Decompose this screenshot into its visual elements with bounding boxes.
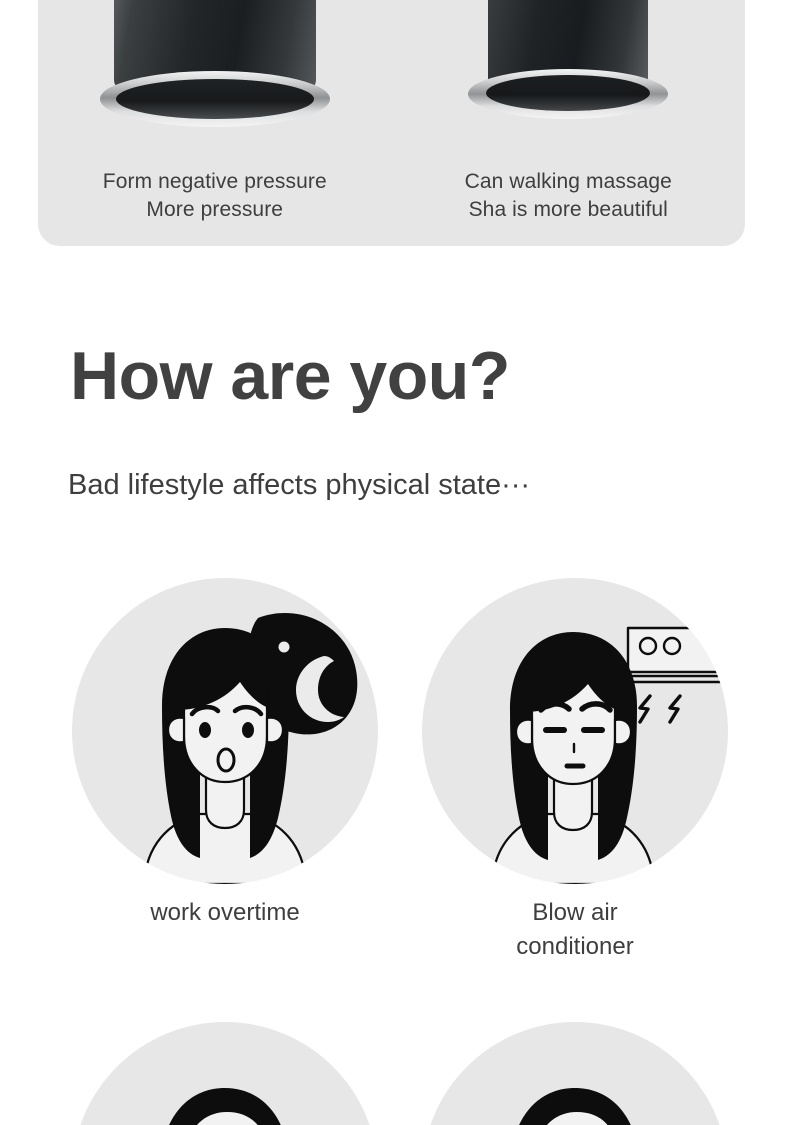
- woman-partial-icon: [72, 1022, 378, 1125]
- woman-air-conditioner-icon: [422, 578, 728, 884]
- page-title: How are you?: [70, 336, 510, 416]
- cupping-cup-wide-icon: [100, 0, 330, 130]
- feature-item-1: Can walking massage Sha is more beautifu…: [392, 0, 746, 246]
- problem-item-air-conditioner: Blow air conditioner: [422, 578, 728, 884]
- problem-caption-air-conditioner: Blow air conditioner: [382, 896, 768, 964]
- woman-night-moon-icon: [72, 578, 378, 884]
- feature-caption-0-line2: More pressure: [103, 196, 327, 224]
- problem-item-3: [72, 1022, 378, 1125]
- problem-item-work-overtime: work overtime: [72, 578, 378, 884]
- feature-caption-1-line2: Sha is more beautiful: [465, 196, 672, 224]
- woman-partial-icon: [422, 1022, 728, 1125]
- feature-caption-0: Form negative pressure More pressure: [103, 168, 327, 224]
- product-landing-page: Form negative pressure More pressure Can…: [0, 0, 790, 1125]
- problem-caption-line2: conditioner: [382, 930, 768, 964]
- feature-card: Form negative pressure More pressure Can…: [38, 0, 745, 246]
- product-image-narrow-cup: [392, 0, 746, 130]
- cup-base-inner: [486, 75, 650, 111]
- feature-item-0: Form negative pressure More pressure: [38, 0, 392, 246]
- problem-caption-line1: work overtime: [32, 896, 418, 930]
- problem-item-4: [422, 1022, 728, 1125]
- page-subtitle: Bad lifestyle affects physical state···: [68, 466, 530, 504]
- cupping-cup-narrow-icon: [468, 0, 668, 130]
- feature-grid: Form negative pressure More pressure Can…: [38, 0, 745, 246]
- feature-caption-1: Can walking massage Sha is more beautifu…: [465, 168, 672, 224]
- cup-base-inner: [116, 79, 314, 119]
- problem-caption-line1: Blow air: [382, 896, 768, 930]
- product-image-wide-cup: [38, 0, 392, 130]
- feature-caption-0-line1: Form negative pressure: [103, 168, 327, 196]
- feature-caption-1-line1: Can walking massage: [465, 168, 672, 196]
- problem-caption-work-overtime: work overtime: [32, 896, 418, 930]
